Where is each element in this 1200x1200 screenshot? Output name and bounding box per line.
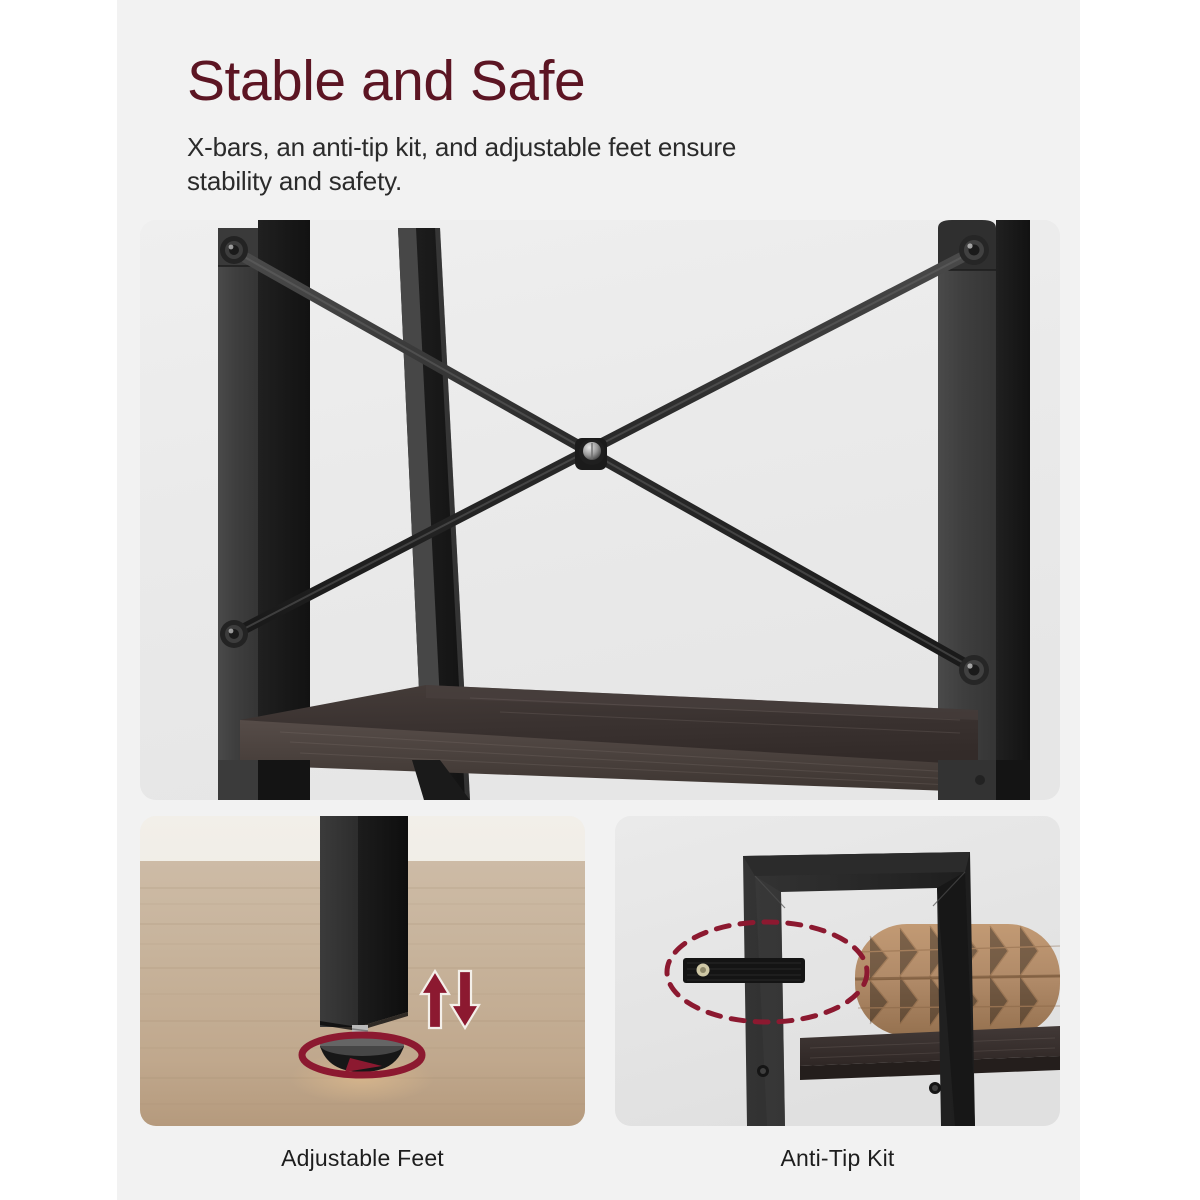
anti-tip-kit-illustration [615, 816, 1060, 1126]
post-foot-left [218, 760, 258, 800]
anti-tip-strap [683, 958, 805, 983]
post-foot-left-side [258, 760, 310, 800]
corner-bolt-bottom-right [959, 655, 989, 685]
post-foot-right [938, 760, 996, 800]
page-title: Stable and Safe [187, 52, 1007, 112]
post-foot-right-side [996, 760, 1030, 800]
caption-anti-tip-kit: Anti-Tip Kit [615, 1145, 1060, 1172]
product-feature-page: Stable and Safe X-bars, an anti-tip kit,… [0, 0, 1200, 1200]
caption-adjustable-feet: Adjustable Feet [140, 1145, 585, 1172]
page-subtitle: X-bars, an anti-tip kit, and adjustable … [187, 130, 827, 199]
corner-bolt-bottom-left [220, 620, 248, 648]
post-screw-right [975, 775, 985, 785]
adjustable-feet-illustration [140, 816, 585, 1126]
table-leg [320, 816, 408, 1031]
header-block: Stable and Safe X-bars, an anti-tip kit,… [187, 52, 1007, 198]
panel-x-bar-detail [140, 220, 1060, 800]
x-bar-illustration [140, 220, 1060, 800]
x-bar-center-bolt [575, 438, 607, 470]
corner-bolt-top-right [959, 235, 989, 265]
corner-bolt-top-left [220, 236, 248, 264]
panel-anti-tip-kit [615, 816, 1060, 1126]
panel-adjustable-feet [140, 816, 585, 1126]
